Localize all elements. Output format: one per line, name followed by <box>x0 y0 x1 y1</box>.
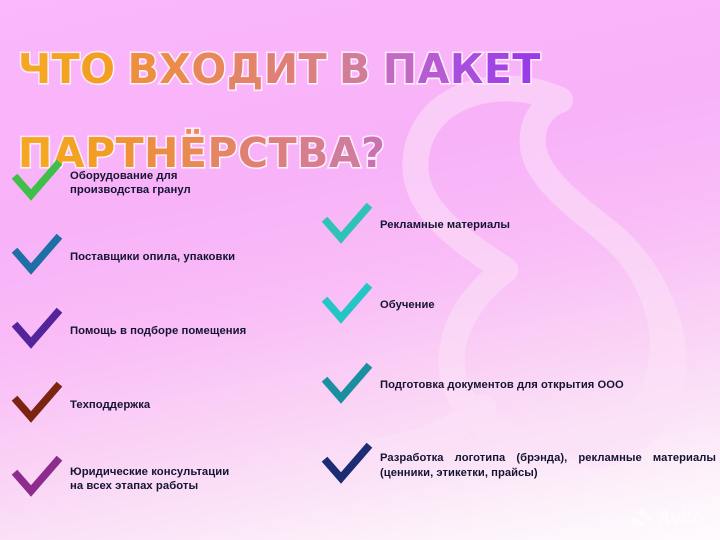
checkmark-icon <box>14 162 60 204</box>
list-item-label: Техподдержка <box>70 398 150 412</box>
list-item-label: Подготовка документов для открытия ООО <box>380 378 624 392</box>
checkmark-icon <box>14 384 60 426</box>
checkmark-icon <box>14 236 60 278</box>
list-item-label: Рекламные материалы <box>380 218 510 232</box>
list-item: Обучение <box>324 270 716 341</box>
list-item: Оборудование дляпроизводства гранул <box>14 148 334 218</box>
list-item-label: Помощь в подборе помещения <box>70 324 246 338</box>
benefits-list-right: Рекламные материалы Обучение Подготовка … <box>324 190 716 501</box>
checkmark-icon <box>324 365 370 407</box>
list-item: Подготовка документов для открытия ООО <box>324 350 716 421</box>
list-item: Рекламные материалы <box>324 190 716 261</box>
list-item-label: Разработка логотипа (брэнда), рекламные … <box>380 451 716 480</box>
benefits-list-left: Оборудование дляпроизводства гранул Пост… <box>14 148 334 514</box>
list-item: Помощь в подборе помещения <box>14 296 334 366</box>
checkmark-icon <box>14 310 60 352</box>
list-item-label: Юридические консультациина всех этапах р… <box>70 465 229 494</box>
list-item-label: Оборудование дляпроизводства гранул <box>70 169 191 198</box>
list-item-label: Поставщики опила, упаковки <box>70 250 235 264</box>
checkmark-icon <box>324 445 370 487</box>
page-title-line-1: ЧТОВХОДИТВПАКЕТ <box>18 47 578 91</box>
list-item: Разработка логотипа (брэнда), рекламные … <box>324 430 716 501</box>
list-item: Юридические консультациина всех этапах р… <box>14 444 334 514</box>
avito-wordmark: Avito <box>657 508 704 528</box>
list-item-label: Обучение <box>380 298 435 312</box>
avito-dots-logo-icon <box>631 508 653 528</box>
checkmark-icon <box>14 458 60 500</box>
poster-canvas: ЧТОВХОДИТВПАКЕТ ПАРТНЁРСТВА? Оборудовани… <box>0 0 720 540</box>
list-item: Техподдержка <box>14 370 334 440</box>
avito-watermark: Avito <box>631 508 704 528</box>
list-item: Поставщики опила, упаковки <box>14 222 334 292</box>
checkmark-icon <box>324 205 370 247</box>
checkmark-icon <box>324 285 370 327</box>
